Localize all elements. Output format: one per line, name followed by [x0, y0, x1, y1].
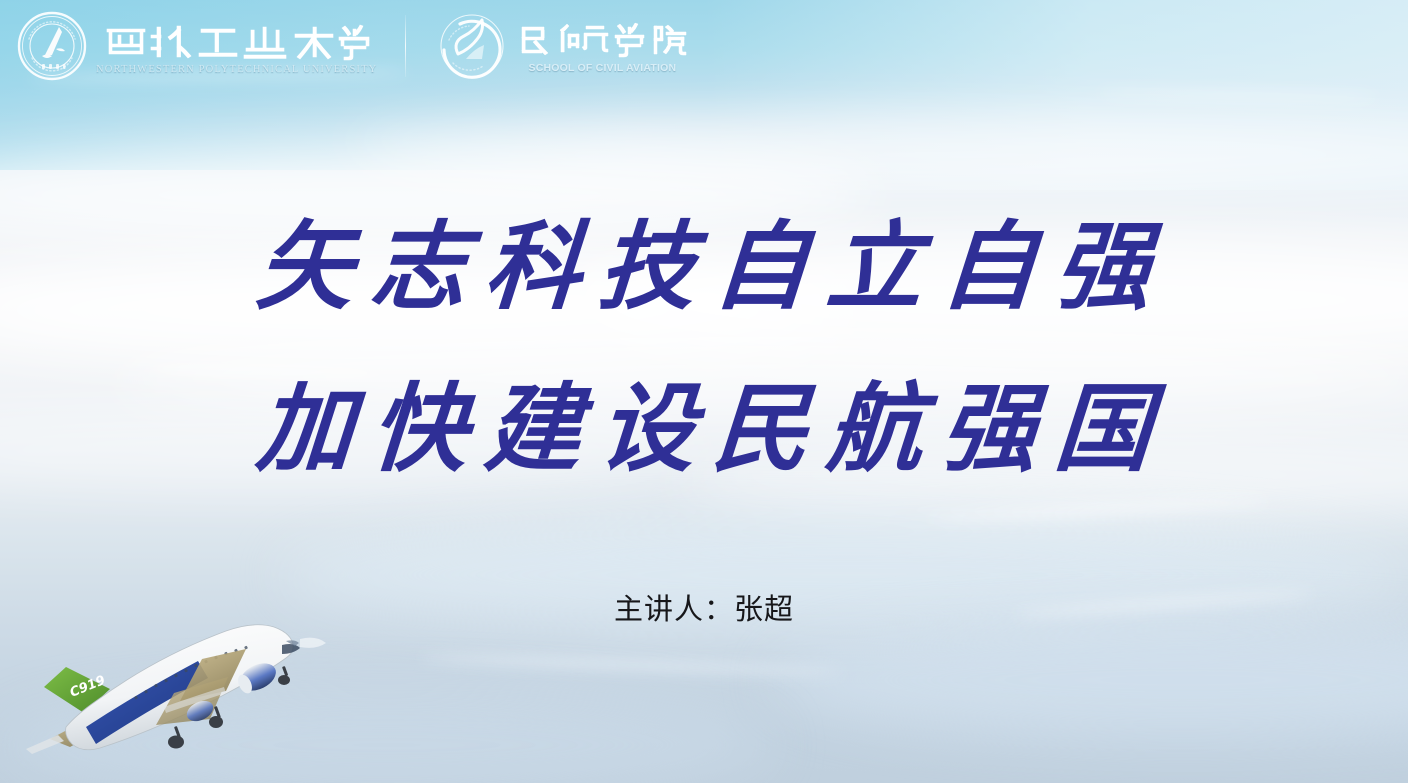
civil-aviation-seal-icon [436, 10, 508, 82]
civil-aviation-name-en: SCHOOL OF CIVIL AVIATION [529, 62, 677, 74]
logo-group: NORTHWESTERN POLYTECHNICAL UNIVERSITY [0, 10, 688, 82]
slide-title: 矢志科技自立自强 加快建设民航强国 [0, 186, 1408, 510]
civil-aviation-wordmark: SCHOOL OF CIVIL AVIATION [516, 18, 688, 74]
title-line-1: 矢志科技自立自强 [0, 186, 1408, 348]
c919-aircraft-image: C919 [14, 615, 334, 775]
npu-wordmark: NORTHWESTERN POLYTECHNICAL UNIVERSITY [96, 17, 377, 75]
logo-header-bar: NORTHWESTERN POLYTECHNICAL UNIVERSITY [0, 0, 1408, 92]
title-line-2: 加快建设民航强国 [0, 348, 1408, 510]
civil-aviation-name-cn-calligraphy [516, 18, 688, 60]
npu-name-cn-calligraphy [101, 17, 373, 63]
npu-name-en: NORTHWESTERN POLYTECHNICAL UNIVERSITY [96, 64, 377, 75]
title-slide: NORTHWESTERN POLYTECHNICAL UNIVERSITY [0, 0, 1408, 783]
npu-logo: NORTHWESTERN POLYTECHNICAL UNIVERSITY [16, 10, 377, 82]
presenter-line: 主讲人：张超 [0, 586, 1408, 628]
npu-seal-icon [16, 10, 88, 82]
logo-divider [405, 15, 406, 77]
civil-aviation-logo: SCHOOL OF CIVIL AVIATION [436, 10, 688, 82]
